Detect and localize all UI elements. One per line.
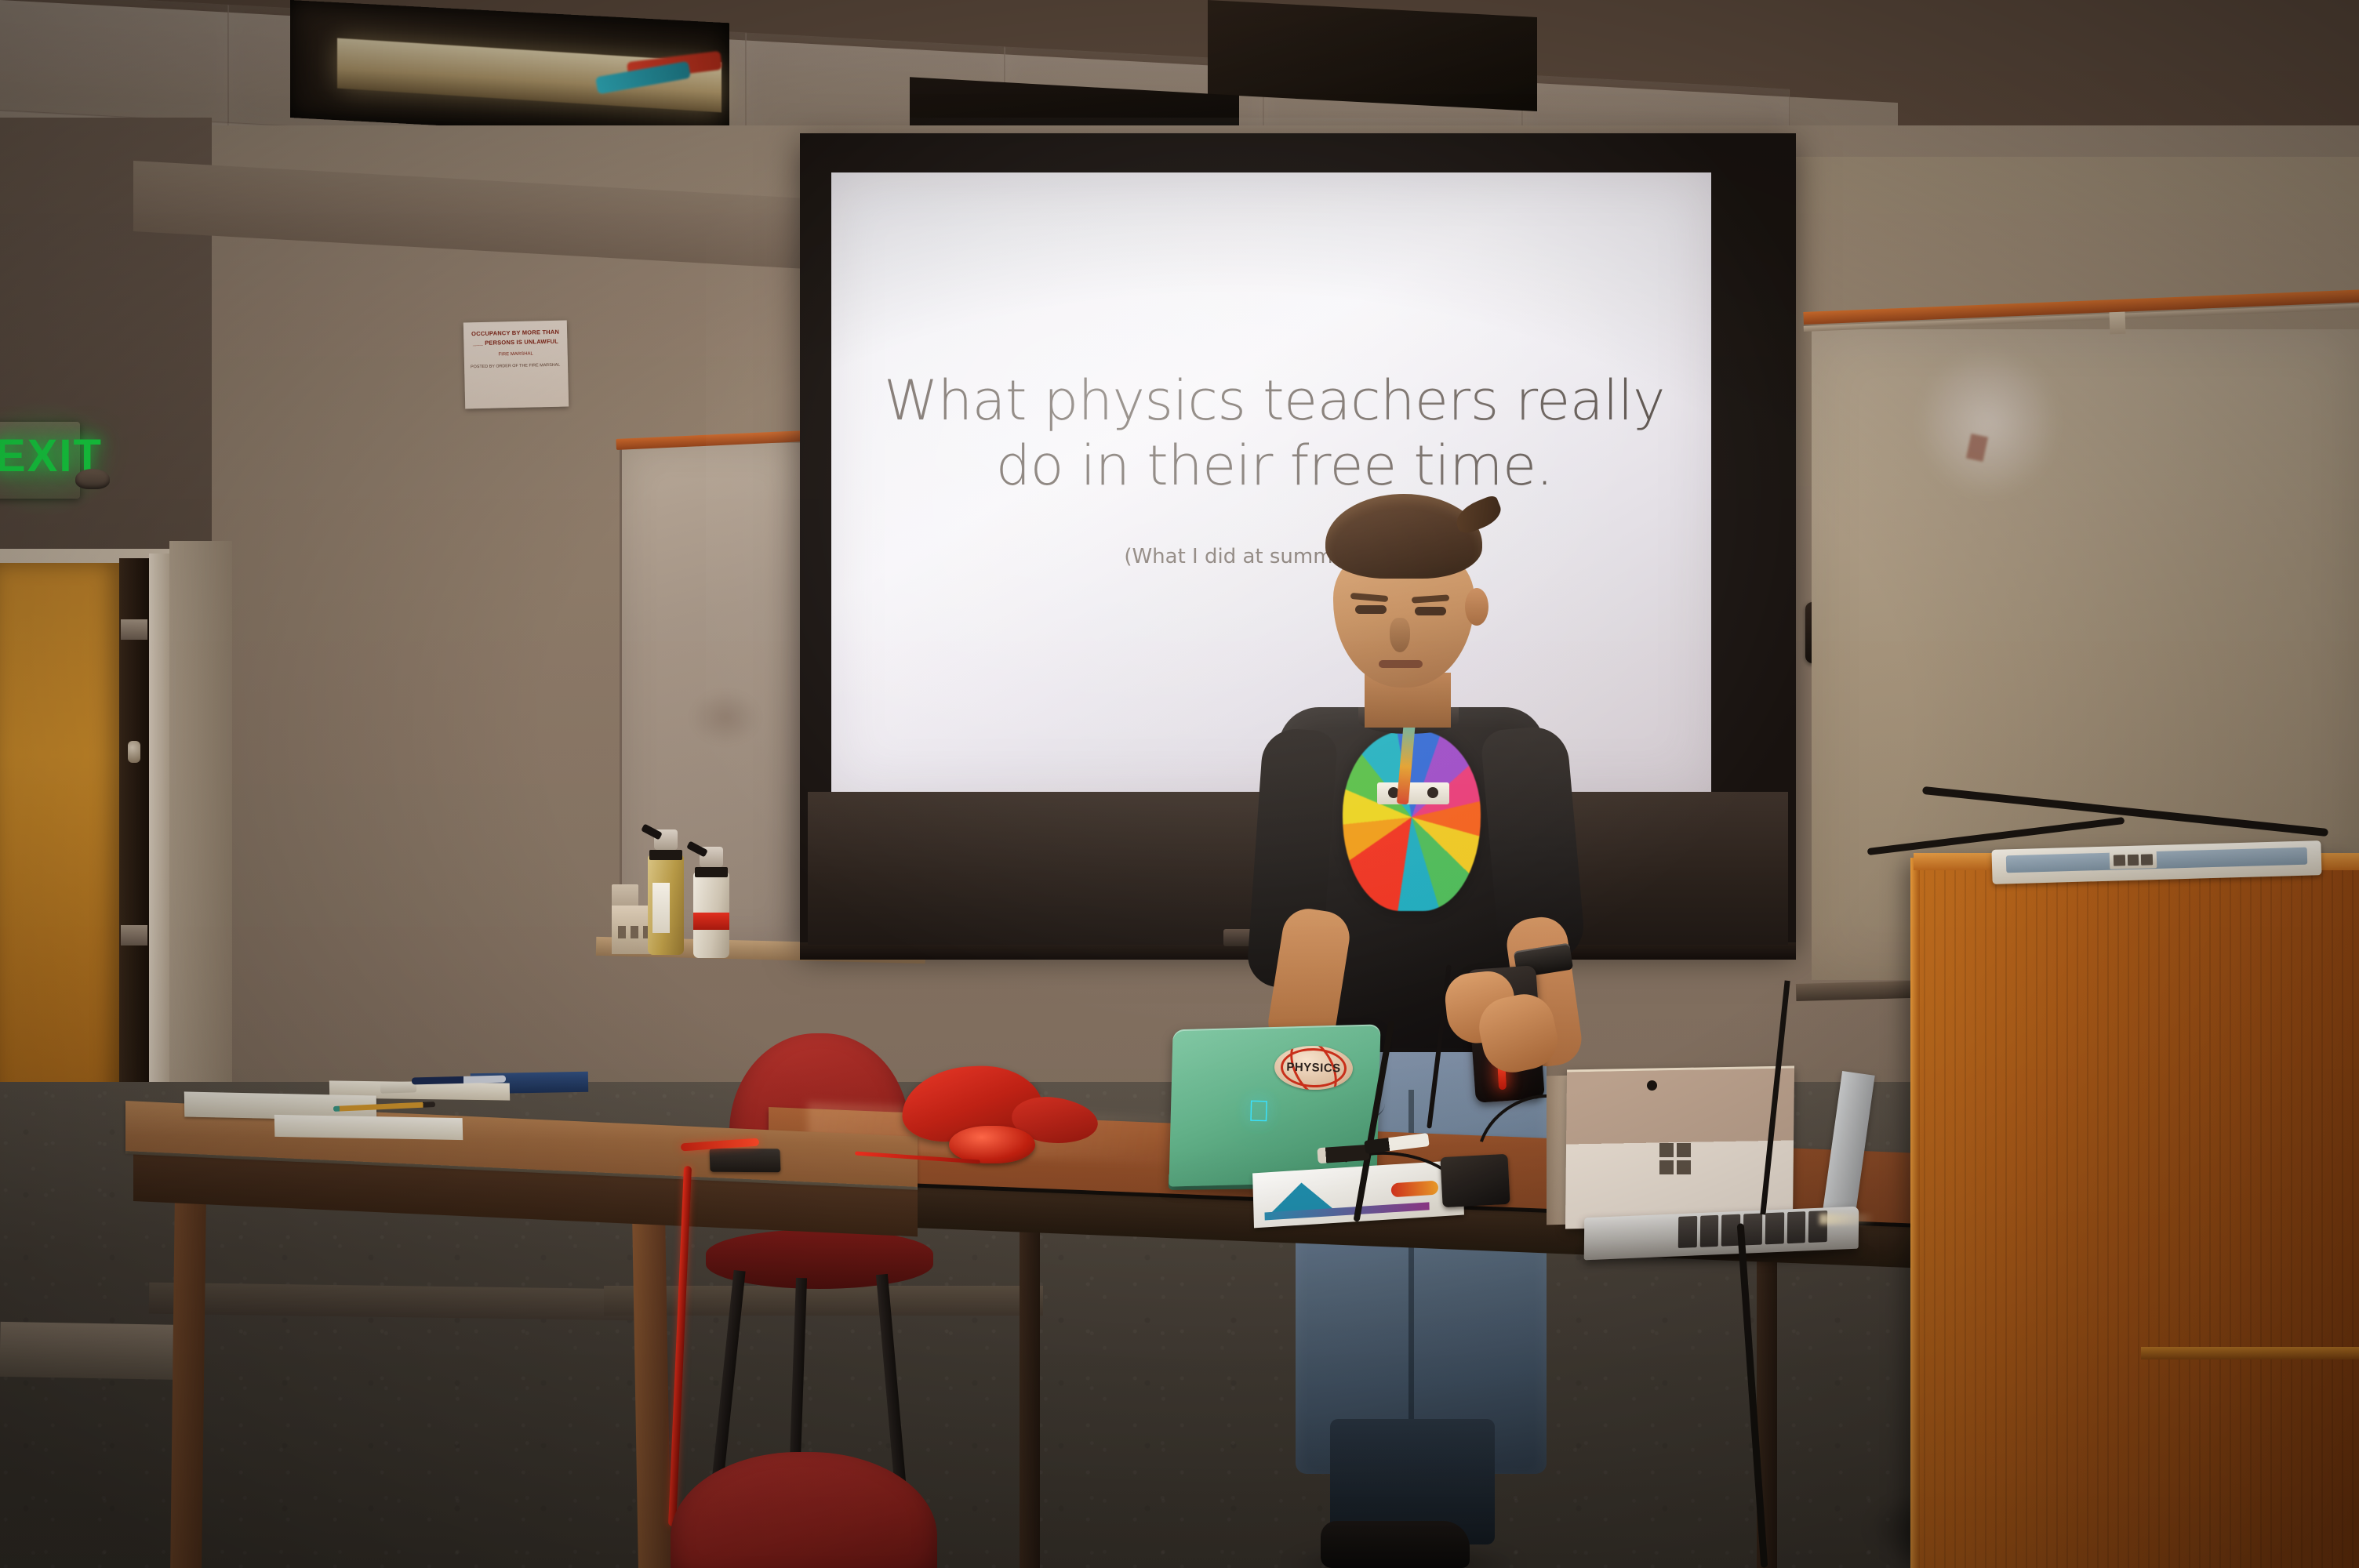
classroom-photo: EXIT OCCUPANCY BY MORE THAN ___ PERSONS … [0,0,2359,1568]
lectern-edge [1910,858,1920,1568]
ceiling-recess-secondary [1208,0,1537,111]
power-adapter[interactable] [1440,1154,1510,1207]
presenter-nose [1390,618,1410,652]
table-leg [170,1192,206,1568]
camera-icon [1647,1080,1657,1091]
door-hinge-middle [121,925,147,946]
presenter-hair [1325,494,1482,579]
floor-transition-strip [0,1322,189,1380]
table-leg [632,1207,671,1568]
spray-bottle-white[interactable] [689,840,736,956]
spray-bottle-amber[interactable] [643,822,690,955]
occupancy-sign-line-3: POSTED BY ORDER OF THE FIRE MARSHAL [471,362,562,372]
presenter-eye-left [1355,605,1387,614]
red-round-object[interactable] [949,1126,1035,1163]
slide-title: What physics teachers really do in their… [855,368,1694,498]
occupancy-sign-line-1: OCCUPANCY BY MORE THAN ___ PERSONS IS UN… [470,328,561,348]
presenter-shoe [1321,1521,1470,1568]
table-leg [1020,1223,1040,1568]
slide-title-line-1: What physics teachers really [855,368,1694,434]
av-control-panel-buttons[interactable] [2110,851,2157,869]
lectern[interactable] [1914,861,2359,1568]
eraser[interactable] [380,1081,416,1093]
occupancy-sign-line-2: FIRE MARSHAL [471,351,562,358]
tshirt-graphic-eyes [1377,782,1449,804]
emergency-lamp-icon [75,469,110,489]
occupancy-sign: OCCUPANCY BY MORE THAN ___ PERSONS IS UN… [463,321,569,409]
whiteboard-right-sheen [1914,345,2063,502]
presenter-mouth [1379,660,1423,668]
slide-title-line-2: do in their free time. [855,434,1694,499]
baseboard-center [604,1286,1043,1316]
whiteboard-right-clip [2110,312,2126,335]
lectern-shelf [2141,1347,2359,1359]
physics-sticker-label: PHYSICS [1274,1060,1353,1076]
apple-logo-icon:  [1245,1098,1272,1130]
presenter-eye-right [1415,607,1446,615]
whiteboard-left-smudge [690,690,761,745]
door-hinge-top [121,619,147,640]
power-strip[interactable] [710,1149,781,1173]
exit-sign-label: EXIT [0,434,74,479]
windows-logo-icon [1659,1143,1691,1174]
presenter-ear [1465,588,1488,626]
laptop-screen-glow [1819,1214,1874,1225]
macbook-keyboard[interactable] [1678,1210,1827,1248]
door-handle[interactable] [128,741,140,763]
paper-sheet[interactable] [274,1115,463,1140]
